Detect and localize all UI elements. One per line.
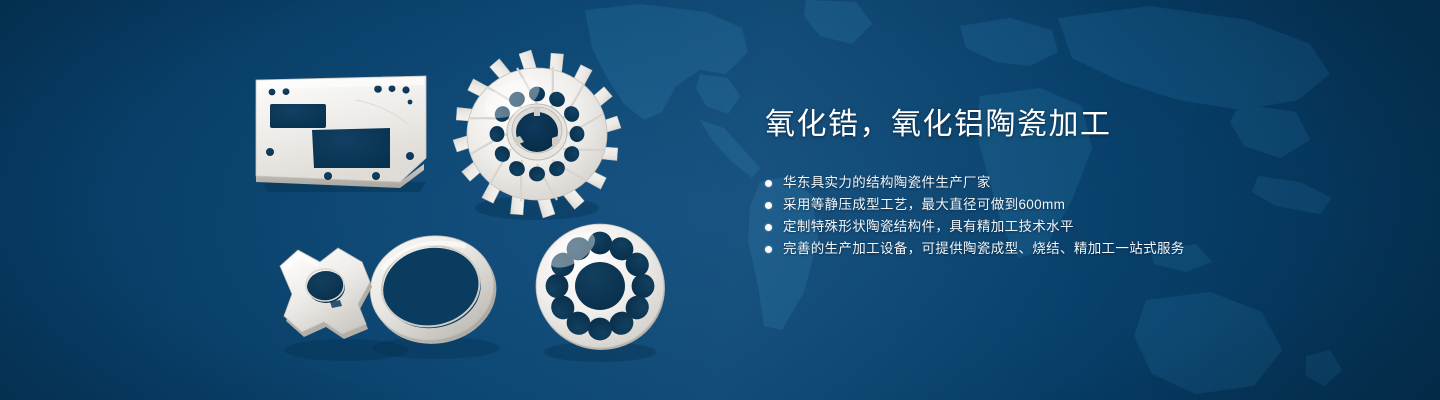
feature-text: 完善的生产加工设备，可提供陶瓷成型、烧结、精加工一站式服务 <box>783 238 1185 260</box>
ceramic-machined-plate <box>248 72 444 198</box>
banner-copy-block: 氧化锆，氧化铝陶瓷加工 华东具实力的结构陶瓷件生产厂家 采用等静压成型工艺，最大… <box>765 104 1365 260</box>
ceramic-product-banner: 氧化锆，氧化铝陶瓷加工 华东具实力的结构陶瓷件生产厂家 采用等静压成型工艺，最大… <box>0 0 1440 400</box>
ceramic-cross-plate-and-ring <box>246 222 512 364</box>
bullet-dot-icon <box>765 180 772 187</box>
feature-text: 采用等静压成型工艺，最大直径可做到600mm <box>783 194 1065 216</box>
bullet-dot-icon <box>765 224 772 231</box>
ceramic-perforated-disc <box>516 216 688 366</box>
list-item: 完善的生产加工设备，可提供陶瓷成型、烧结、精加工一站式服务 <box>765 238 1365 260</box>
list-item: 华东具实力的结构陶瓷件生产厂家 <box>765 172 1365 194</box>
feature-text: 华东具实力的结构陶瓷件生产厂家 <box>783 172 991 194</box>
page-title: 氧化锆，氧化铝陶瓷加工 <box>765 104 1365 146</box>
feature-text: 定制特殊形状陶瓷结构件，具有精加工技术水平 <box>783 216 1074 238</box>
feature-list: 华东具实力的结构陶瓷件生产厂家 采用等静压成型工艺，最大直径可做到600mm 定… <box>765 172 1365 260</box>
product-image-group <box>0 0 760 400</box>
bullet-dot-icon <box>765 246 772 253</box>
list-item: 定制特殊形状陶瓷结构件，具有精加工技术水平 <box>765 216 1365 238</box>
list-item: 采用等静压成型工艺，最大直径可做到600mm <box>765 194 1365 216</box>
ceramic-impeller-rotor <box>446 46 628 228</box>
bullet-dot-icon <box>765 202 772 209</box>
